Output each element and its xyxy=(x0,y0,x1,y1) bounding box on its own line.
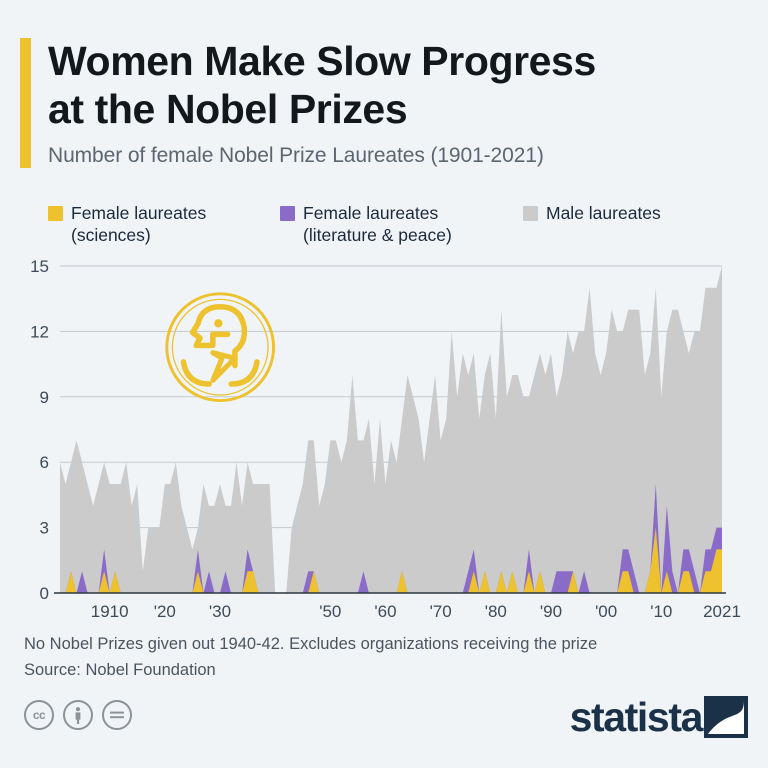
footer: cc statista xyxy=(24,700,748,760)
legend-label: Female laureates (literature & peace) xyxy=(303,202,452,247)
legend-swatch-icon xyxy=(523,206,538,221)
x-axis-tick-label: '90 xyxy=(540,602,562,620)
x-axis-tick-label: '50 xyxy=(319,602,341,620)
title-line-1: Women Make Slow Progress xyxy=(48,38,596,84)
x-axis-tick-label: '20 xyxy=(154,602,176,620)
y-axis-labels: 03691215 xyxy=(30,257,49,603)
y-axis-tick-label: 3 xyxy=(40,519,49,538)
nobel-medal-watermark xyxy=(167,294,274,401)
accent-bar xyxy=(20,38,31,168)
y-axis-tick-label: 0 xyxy=(40,584,49,603)
statista-mark-icon xyxy=(704,696,748,738)
cc-icon[interactable]: cc xyxy=(24,700,54,730)
legend-item-female-sciences[interactable]: Female laureates (sciences) xyxy=(48,202,280,247)
x-axis-tick-label: '00 xyxy=(595,602,617,620)
equals-glyph xyxy=(109,710,125,720)
legend-item-male[interactable]: Male laureates xyxy=(523,202,661,247)
x-axis-tick-label: 2021 xyxy=(703,602,741,620)
series-areas xyxy=(60,266,722,593)
x-axis-labels: 1910'20'30'50'60'70'80'90'00'102021 xyxy=(91,602,741,620)
cc-nd-equals-icon[interactable] xyxy=(102,700,132,730)
x-axis-tick-label: '80 xyxy=(485,602,507,620)
x-axis-tick-label: '10 xyxy=(650,602,672,620)
legend-label: Male laureates xyxy=(546,202,661,224)
creative-commons-icons: cc xyxy=(24,700,132,730)
legend-swatch-icon xyxy=(280,206,295,221)
infographic-page: Women Make Slow Progress at the Nobel Pr… xyxy=(0,0,768,768)
chart-legend: Female laureates (sciences) Female laure… xyxy=(48,202,748,247)
x-axis-tick-label: 1910 xyxy=(91,602,129,620)
footnote-line-1: No Nobel Prizes given out 1940-42. Exclu… xyxy=(24,632,748,658)
cc-by-person-icon[interactable] xyxy=(63,700,93,730)
page-subtitle: Number of female Nobel Prize Laureates (… xyxy=(48,144,748,168)
y-axis-tick-label: 12 xyxy=(30,322,49,341)
legend-swatch-icon xyxy=(48,206,63,221)
footnotes: No Nobel Prizes given out 1940-42. Exclu… xyxy=(24,632,748,683)
y-axis-tick-label: 9 xyxy=(40,388,49,407)
footnote-line-2: Source: Nobel Foundation xyxy=(24,658,748,684)
page-title: Women Make Slow Progress at the Nobel Pr… xyxy=(48,38,748,133)
statista-wordmark: statista xyxy=(570,697,702,738)
x-axis-tick-label: '30 xyxy=(209,602,231,620)
stacked-area-chart: 03691215 1910'20'30'50'60'70'80'90'00'10… xyxy=(0,250,768,620)
title-line-2: at the Nobel Prizes xyxy=(48,86,407,132)
header: Women Make Slow Progress at the Nobel Pr… xyxy=(20,38,748,168)
x-axis-tick-label: '60 xyxy=(374,602,396,620)
title-block: Women Make Slow Progress at the Nobel Pr… xyxy=(48,38,748,168)
person-glyph xyxy=(71,706,85,724)
statista-logo[interactable]: statista xyxy=(570,696,748,738)
y-axis-tick-label: 6 xyxy=(40,453,49,472)
x-axis-tick-label: '70 xyxy=(430,602,452,620)
series-area-male xyxy=(60,266,722,593)
legend-item-female-literature-peace[interactable]: Female laureates (literature & peace) xyxy=(280,202,523,247)
y-axis-tick-label: 15 xyxy=(30,257,49,276)
legend-label: Female laureates (sciences) xyxy=(71,202,206,247)
chart-area: 03691215 1910'20'30'50'60'70'80'90'00'10… xyxy=(0,250,768,620)
